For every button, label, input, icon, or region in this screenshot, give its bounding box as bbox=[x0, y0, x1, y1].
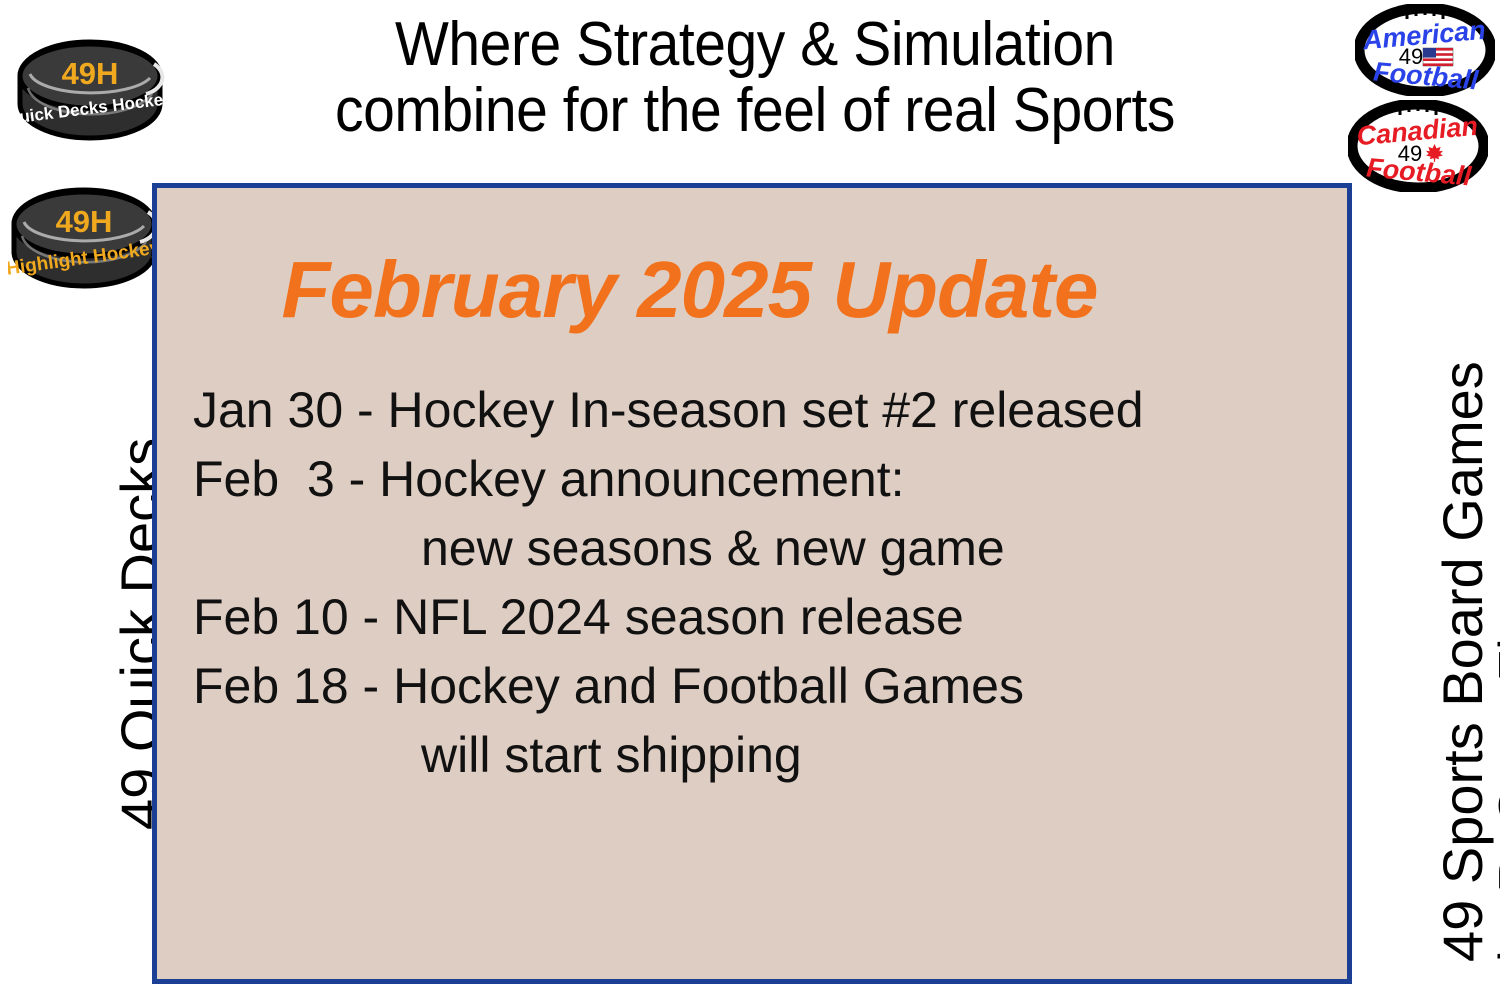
update-list: Jan 30 - Hockey In-season set #2 release… bbox=[193, 376, 1343, 790]
puck-code-label: 49H bbox=[62, 56, 119, 91]
right-vertical-label-title: 49 Sports Board Games bbox=[1430, 361, 1495, 962]
update-list-item: Jan 30 - Hockey In-season set #2 release… bbox=[193, 376, 1343, 445]
panel-title: February 2025 Update bbox=[157, 244, 1222, 336]
update-list-item: will start shipping bbox=[193, 721, 1343, 790]
page-headline: Where Strategy & Simulation combine for … bbox=[231, 12, 1280, 145]
update-list-item: Feb 18 - Hockey and Football Games bbox=[193, 652, 1343, 721]
right-vertical-label-author: by R. Grant Fines bbox=[1488, 555, 1500, 962]
update-list-item: Feb 10 - NFL 2024 season release bbox=[193, 583, 1343, 652]
update-panel: February 2025 Update Jan 30 - Hockey In-… bbox=[152, 183, 1352, 984]
puck-code-label: 49H bbox=[56, 204, 113, 239]
update-list-item: new seasons & new game bbox=[193, 514, 1343, 583]
football-logo-canadian: Canadian 49 Football bbox=[1348, 100, 1488, 192]
puck-logo-quick-decks-hockey: 49H Quick Decks Hockey bbox=[14, 38, 166, 142]
football-logo-american: American 49 Football bbox=[1355, 4, 1495, 96]
update-list-item: Feb 3 - Hockey announcement: bbox=[193, 445, 1343, 514]
puck-logo-highlight-hockey: 49H Highlight Hockey bbox=[8, 186, 160, 290]
